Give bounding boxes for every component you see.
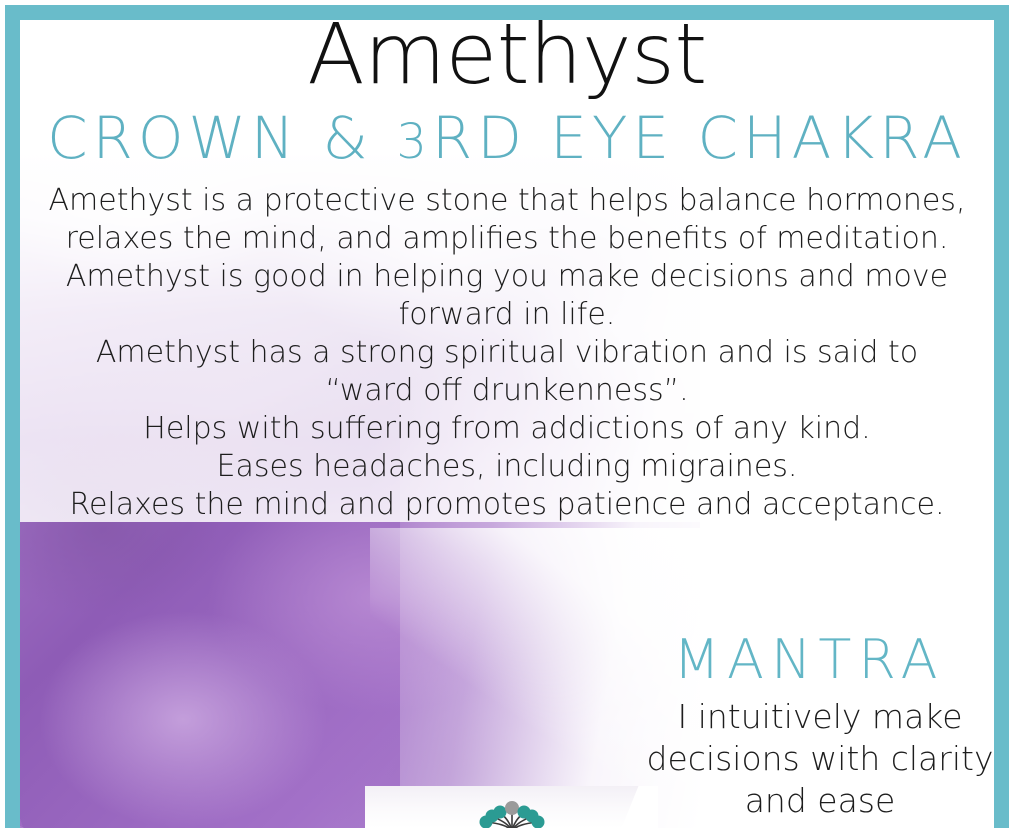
description-line: Eases headaches, including migraines. <box>25 448 989 486</box>
description-body: Amethyst is a protective stone that help… <box>25 182 989 524</box>
chakra-subtitle-after: RD EYE CHAKRA <box>432 104 967 172</box>
page-title: Amethyst <box>0 8 1014 100</box>
mantra-body: I intuitively make decisions with clarit… <box>640 696 1000 822</box>
mantra-line: and ease <box>640 780 1000 822</box>
mantra-line: I intuitively make <box>640 696 1000 738</box>
chakra-subtitle-before: CROWN & <box>47 104 396 172</box>
beaded-tree-logo <box>452 792 572 828</box>
logo-card <box>365 786 658 828</box>
description-line: “ward off drunkenness”. <box>25 372 989 410</box>
description-line: Amethyst has a strong spiritual vibratio… <box>25 334 989 372</box>
description-line: Helps with suffering from addictions of … <box>25 410 989 448</box>
chakra-subtitle-numeral: 3 <box>396 114 432 170</box>
description-line: Relaxes the mind and promotes patience a… <box>25 486 989 524</box>
description-line: relaxes the mind, and amplifies the bene… <box>25 220 989 258</box>
mantra-line: decisions with clarity <box>640 738 1000 780</box>
chakra-subtitle: CROWN & 3RD EYE CHAKRA <box>0 105 1014 175</box>
logo-card-angled-edge <box>622 786 658 828</box>
mantra-heading: MANTRA <box>614 630 1004 690</box>
description-line: forward in life. <box>25 296 989 334</box>
description-line: Amethyst is good in helping you make dec… <box>25 258 989 296</box>
amethyst-info-poster: Amethyst CROWN & 3RD EYE CHAKRA Amethyst… <box>0 0 1014 828</box>
description-line: Amethyst is a protective stone that help… <box>25 182 989 220</box>
